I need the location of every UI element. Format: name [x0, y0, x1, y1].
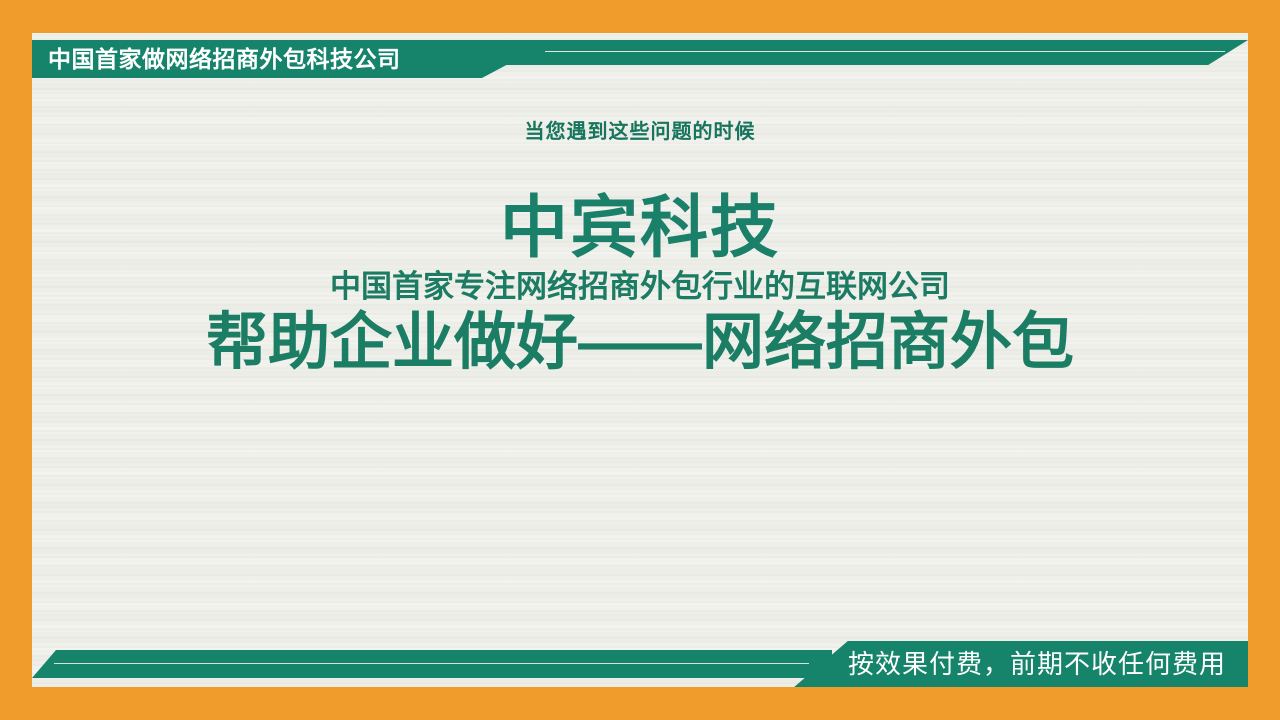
brand-name: 中宾科技: [32, 194, 1248, 262]
slide-root: 中国首家做网络招商外包科技公司 当您遇到这些问题的时候 中宾科技 中国首家专注网…: [0, 0, 1280, 720]
footer-hairline-divider: [54, 663, 809, 664]
header-banner: 中国首家做网络招商外包科技公司: [32, 40, 1248, 80]
tagline-text: 中国首家专注网络招商外包行业的互联网公司: [32, 270, 1248, 304]
footer-slogan-text: 按效果付费，前期不收任何费用: [848, 647, 1226, 681]
header-title-text: 中国首家做网络招商外包科技公司: [48, 43, 401, 75]
footer-accent-bar: [32, 650, 832, 678]
footer-banner: 按效果付费，前期不收任何费用: [32, 641, 1248, 687]
header-hairline-divider: [545, 51, 1225, 52]
slide-content: 当您遇到这些问题的时候 中宾科技 中国首家专注网络招商外包行业的互联网公司 帮助…: [32, 120, 1248, 375]
header-accent-bar: [452, 40, 1248, 65]
headline-text: 帮助企业做好——网络招商外包: [32, 310, 1248, 375]
eyebrow-text: 当您遇到这些问题的时候: [32, 120, 1248, 144]
